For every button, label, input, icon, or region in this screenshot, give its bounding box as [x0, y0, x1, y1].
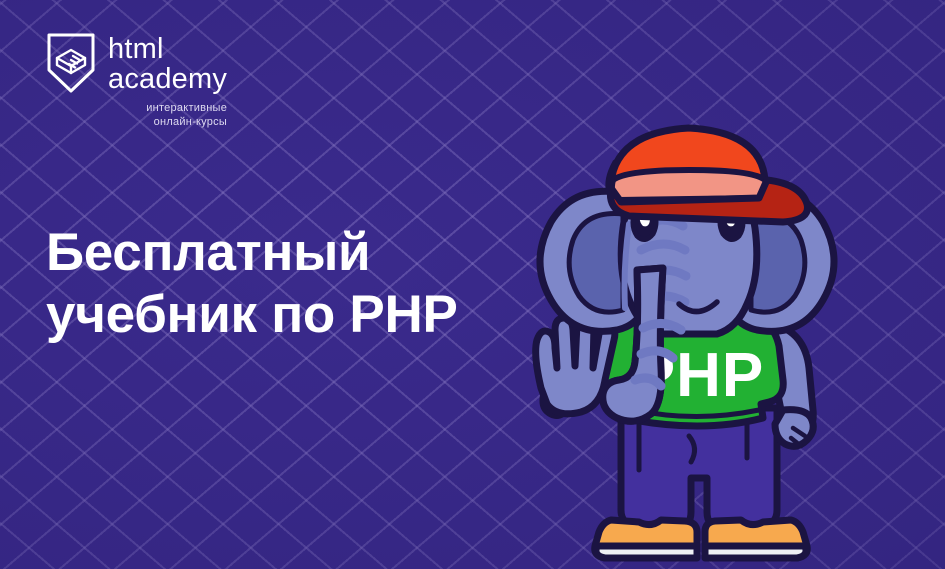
ear-left-inner [569, 214, 623, 313]
logo-tagline-line2: онлайн-курсы [108, 115, 227, 129]
headline-line-2: учебник по PHP [46, 284, 458, 346]
html-academy-shield-logo [46, 32, 96, 94]
elephant-illustration: PHP [511, 118, 871, 569]
html-academy-logo[interactable]: html academy интерактивные онлайн-курсы [46, 32, 227, 129]
logo-word-academy: academy [108, 64, 227, 94]
php-elephant-mascot: PHP [511, 118, 871, 569]
logo-word-html: html [108, 34, 227, 64]
logo-wordmark: html academy интерактивные онлайн-курсы [108, 32, 227, 129]
logo-tagline-line1: интерактивные [108, 101, 227, 115]
shoe-sole-right [705, 546, 806, 558]
logo-tagline: интерактивные онлайн-курсы [108, 101, 227, 129]
headline-line-1: Бесплатный [46, 222, 458, 284]
php-tutorial-banner: html academy интерактивные онлайн-курсы … [0, 0, 945, 569]
shoe-sole-left [596, 546, 697, 558]
page-title: Бесплатный учебник по PHP [46, 222, 458, 346]
